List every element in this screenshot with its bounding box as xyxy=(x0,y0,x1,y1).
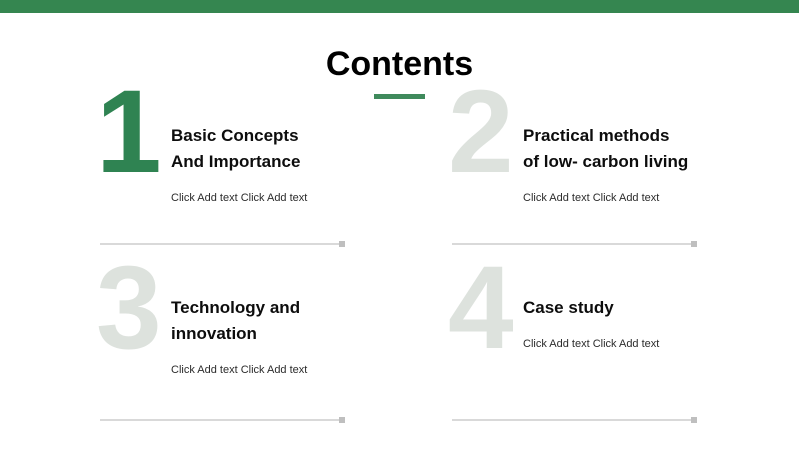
item-body-3: Technology and innovation Click Add text… xyxy=(171,295,386,378)
item-heading-3: Technology and innovation xyxy=(171,295,386,347)
divider-line xyxy=(100,419,340,421)
item-text-3[interactable]: Click Add text Click Add text xyxy=(171,363,386,378)
item-body-1: Basic Concepts And Importance Click Add … xyxy=(171,123,386,206)
divider-line xyxy=(452,419,692,421)
divider-end-dot xyxy=(339,241,345,247)
item-heading-4: Case study xyxy=(523,295,738,321)
contents-item-2[interactable]: 2 Practical methods of low- carbon livin… xyxy=(448,97,738,257)
contents-item-3[interactable]: 3 Technology and innovation Click Add te… xyxy=(96,273,386,433)
item-number-3: 3 xyxy=(96,249,160,367)
contents-grid: 1 Basic Concepts And Importance Click Ad… xyxy=(0,0,799,450)
item-number-1: 1 xyxy=(96,73,160,191)
item-divider-3 xyxy=(100,416,340,424)
item-body-2: Practical methods of low- carbon living … xyxy=(523,123,738,206)
contents-item-1[interactable]: 1 Basic Concepts And Importance Click Ad… xyxy=(96,97,386,257)
item-text-4[interactable]: Click Add text Click Add text xyxy=(523,337,738,352)
item-heading-2: Practical methods of low- carbon living xyxy=(523,123,738,175)
item-heading-1: Basic Concepts And Importance xyxy=(171,123,386,175)
divider-end-dot xyxy=(339,417,345,423)
divider-end-dot xyxy=(691,241,697,247)
item-divider-4 xyxy=(452,416,692,424)
slide-contents: Contents 1 Basic Concepts And Importance… xyxy=(0,0,799,450)
item-number-4: 4 xyxy=(448,249,512,367)
item-text-2[interactable]: Click Add text Click Add text xyxy=(523,191,738,206)
contents-item-4[interactable]: 4 Case study Click Add text Click Add te… xyxy=(448,273,738,433)
item-number-2: 2 xyxy=(448,73,512,191)
item-text-1[interactable]: Click Add text Click Add text xyxy=(171,191,386,206)
divider-end-dot xyxy=(691,417,697,423)
item-body-4: Case study Click Add text Click Add text xyxy=(523,295,738,352)
